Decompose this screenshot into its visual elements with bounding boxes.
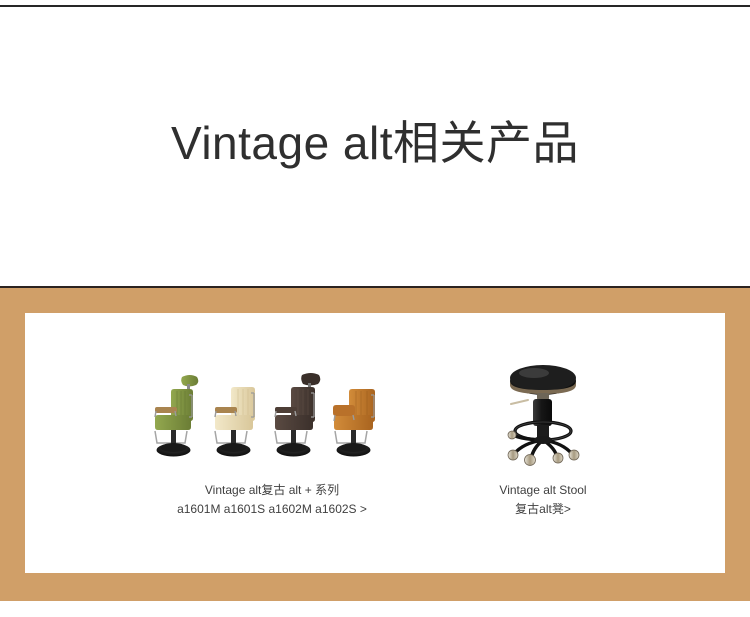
product-page: Vintage alt相关产品 <box>0 0 750 617</box>
related-products-list: Vintage alt复古 alt + 系列 a1601M a1601S a16… <box>25 313 725 573</box>
chair-tan <box>333 389 375 457</box>
product-card-vintage-alt-series[interactable]: Vintage alt复古 alt + 系列 a1601M a1601S a16… <box>147 355 397 519</box>
hero-section: Vintage alt相关产品 <box>0 7 750 286</box>
product-caption-vintage-alt-series: Vintage alt复古 alt + 系列 a1601M a1601S a16… <box>177 481 367 519</box>
product-caption-line-2[interactable]: 复古alt凳> <box>499 500 586 519</box>
chairs-group-image <box>147 355 397 467</box>
product-caption-line-1: Vintage alt Stool <box>499 481 586 500</box>
product-card-vintage-alt-stool[interactable]: Vintage alt Stool 复古alt凳> <box>483 355 603 519</box>
product-caption-line-2[interactable]: a1601M a1601S a1602M a1602S > <box>177 500 367 519</box>
stool-image <box>483 355 603 467</box>
product-caption-line-1: Vintage alt复古 alt + 系列 <box>177 481 367 500</box>
page-title: Vintage alt相关产品 <box>171 118 579 169</box>
chair-dark-brown <box>275 373 320 457</box>
product-caption-vintage-alt-stool: Vintage alt Stool 复古alt凳> <box>499 481 586 519</box>
chair-green <box>155 375 198 457</box>
chair-cream <box>215 387 255 457</box>
vintage-alt-chairs-group-icon <box>152 367 392 467</box>
vintage-alt-stool-icon <box>488 359 598 467</box>
